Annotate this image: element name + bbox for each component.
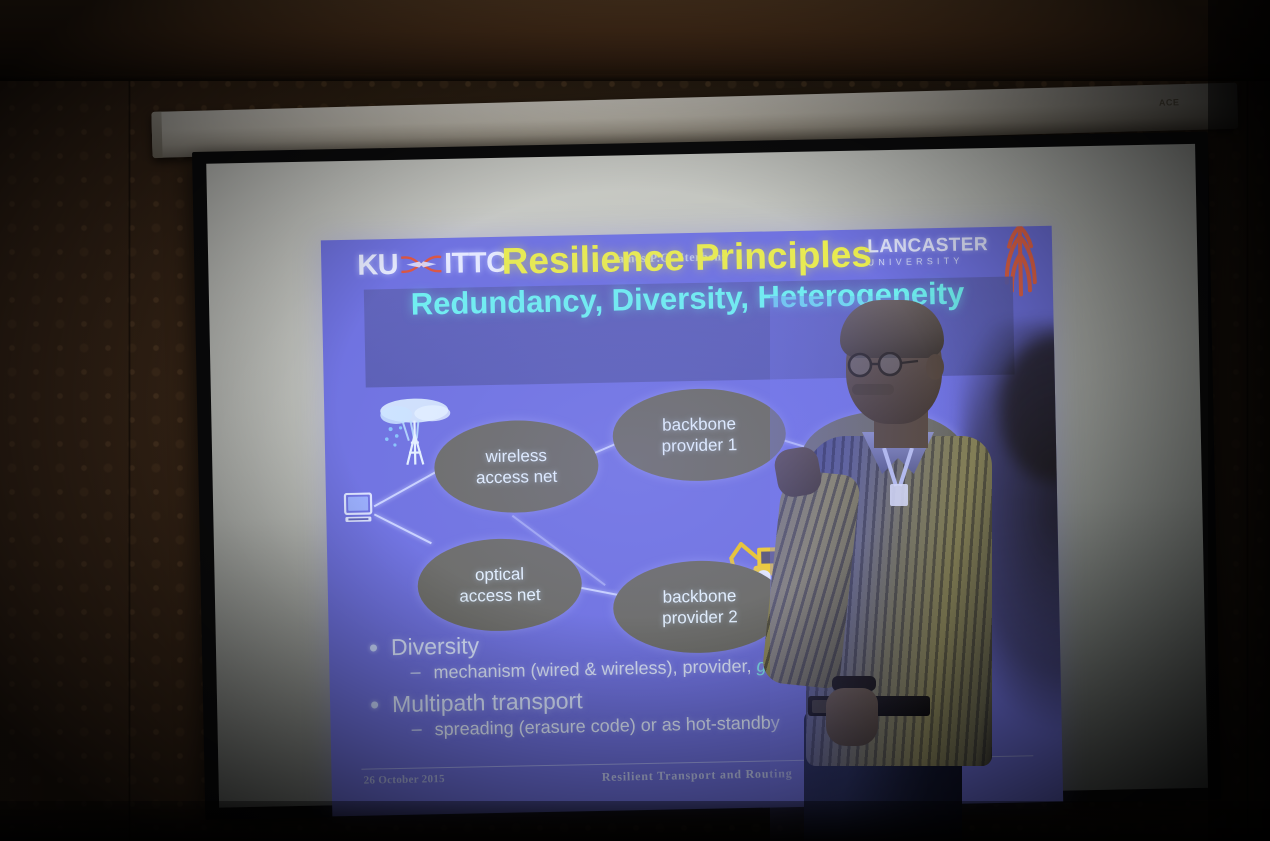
node-line1: wireless	[485, 446, 547, 466]
room-right-shadow	[1208, 0, 1270, 841]
housing-end-cap	[151, 112, 162, 158]
node-line2: access net	[459, 585, 541, 606]
presenter-ear	[926, 354, 944, 380]
diagram-node-wireless-access-net-left: wireless access net	[433, 419, 599, 514]
presenter-eyeglasses-icon	[840, 352, 926, 378]
presenter-figure	[770, 296, 1070, 841]
crown-molding-edge	[0, 74, 1270, 81]
diagram-node-optical-access-net-left: optical access net	[417, 537, 583, 632]
node-line2: provider 2	[662, 607, 738, 628]
presenter-lowered-hand	[826, 688, 878, 746]
housing-brand-label: ACE	[1159, 97, 1180, 108]
room-floor-shadow	[0, 801, 1270, 841]
node-line1: optical	[475, 564, 525, 584]
wallpaper-seam	[128, 0, 131, 841]
presenter-mustache	[852, 384, 894, 395]
photo-scene: ACE KU	[0, 0, 1270, 841]
ceiling-crown-molding	[0, 0, 1270, 78]
node-line1: backbone	[662, 586, 736, 606]
presenter-hair	[840, 300, 944, 358]
node-line2: access net	[476, 467, 558, 488]
node-line2: provider 1	[661, 435, 737, 456]
diagram-node-backbone-provider-1: backbone provider 1	[612, 387, 787, 482]
bullet-text: mechanism (wired & wireless), provider,	[433, 656, 756, 682]
workstation-computer-icon	[343, 492, 378, 525]
diagram-link	[374, 470, 438, 507]
node-line1: backbone	[662, 414, 736, 434]
presenter-lanyard	[878, 446, 918, 512]
diagram-link	[374, 514, 432, 545]
